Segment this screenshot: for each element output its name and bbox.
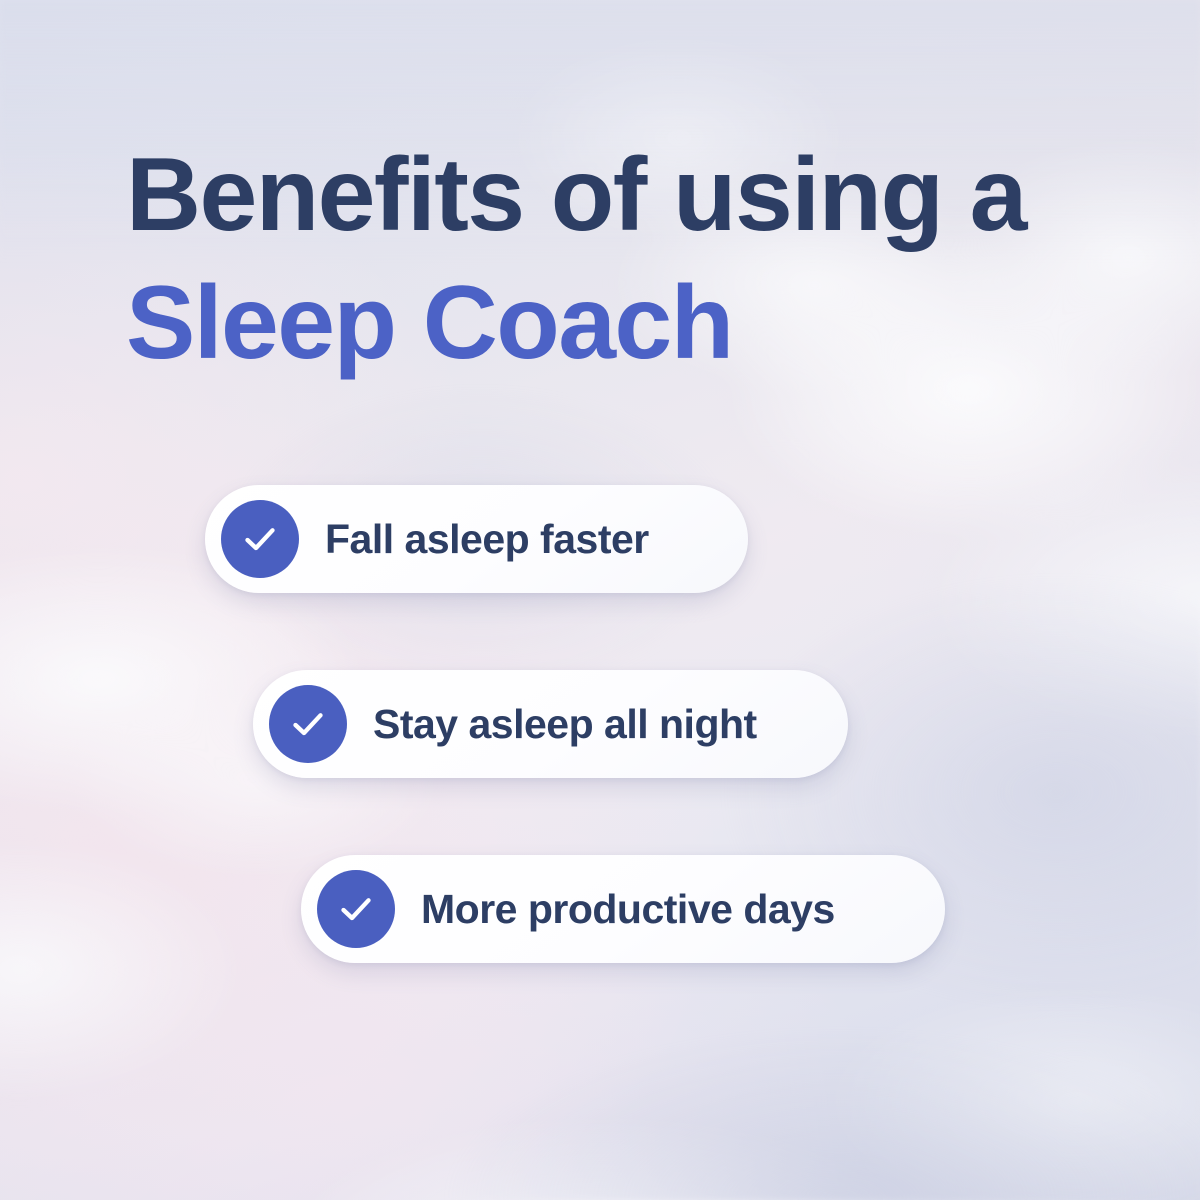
headline-line-1: Benefits of using a xyxy=(126,132,1086,260)
benefit-label: Fall asleep faster xyxy=(325,516,649,563)
benefit-pill-stay-asleep-all-night[interactable]: Stay asleep all night xyxy=(253,670,848,778)
benefit-pill-more-productive-days[interactable]: More productive days xyxy=(301,855,945,963)
check-icon xyxy=(317,870,395,948)
headline-line-2: Sleep Coach xyxy=(126,260,1086,388)
poster-canvas: Benefits of using a Sleep Coach Fall asl… xyxy=(0,0,1200,1200)
benefit-pill-fall-asleep-faster[interactable]: Fall asleep faster xyxy=(205,485,748,593)
benefit-label: More productive days xyxy=(421,886,835,933)
check-icon xyxy=(221,500,299,578)
page-title: Benefits of using a Sleep Coach xyxy=(126,132,1086,388)
benefit-label: Stay asleep all night xyxy=(373,701,757,748)
check-icon xyxy=(269,685,347,763)
poster-content: Benefits of using a Sleep Coach Fall asl… xyxy=(0,0,1200,1200)
